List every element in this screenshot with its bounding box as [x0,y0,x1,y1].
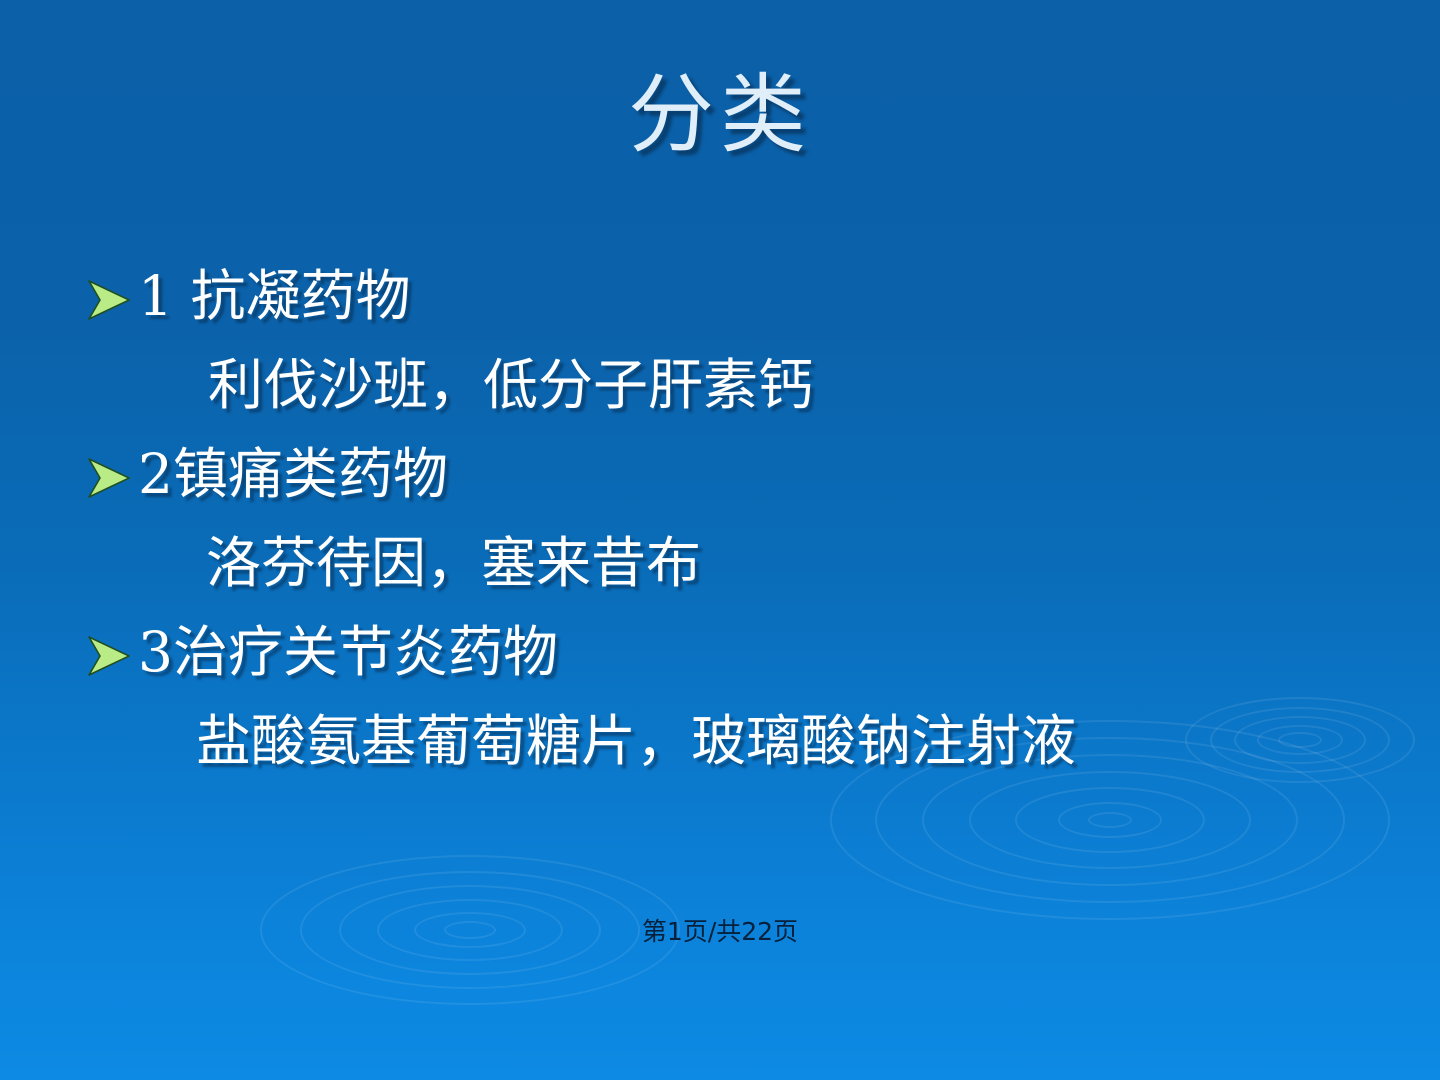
arrow-bullet-icon [86,434,138,522]
bullet-detail: 洛芬待因，塞来昔布 [206,518,701,608]
bullet-detail-row-1: 利伐沙班，低分子肝素钙 [0,340,1440,430]
bullet-heading: 2镇痛类药物 [138,430,448,518]
slide-title: 分类 [0,72,1440,158]
presentation-slide: 分类 1 抗凝药物 利伐沙班，低分子肝素钙 2镇痛类药物 洛芬待因，塞来 [0,0,1440,1080]
bullet-detail: 盐酸氨基葡萄糖片，玻璃酸钠注射液 [196,696,1076,786]
slide-body: 1 抗凝药物 利伐沙班，低分子肝素钙 2镇痛类药物 洛芬待因，塞来昔布 3治 [0,252,1440,786]
bullet-item-3: 3治疗关节炎药物 [0,608,1440,696]
arrow-bullet-icon [86,256,138,344]
bullet-heading: 3治疗关节炎药物 [138,608,558,696]
bullet-heading: 1 抗凝药物 [138,252,410,340]
bullet-item-2: 2镇痛类药物 [0,430,1440,518]
arrow-bullet-icon [86,612,138,700]
bullet-item-1: 1 抗凝药物 [0,252,1440,340]
page-indicator: 第1页/共22页 [0,912,1440,948]
bullet-detail-row-3: 盐酸氨基葡萄糖片，玻璃酸钠注射液 [0,696,1440,786]
bullet-detail-row-2: 洛芬待因，塞来昔布 [0,518,1440,608]
bullet-detail: 利伐沙班，低分子肝素钙 [208,340,813,430]
